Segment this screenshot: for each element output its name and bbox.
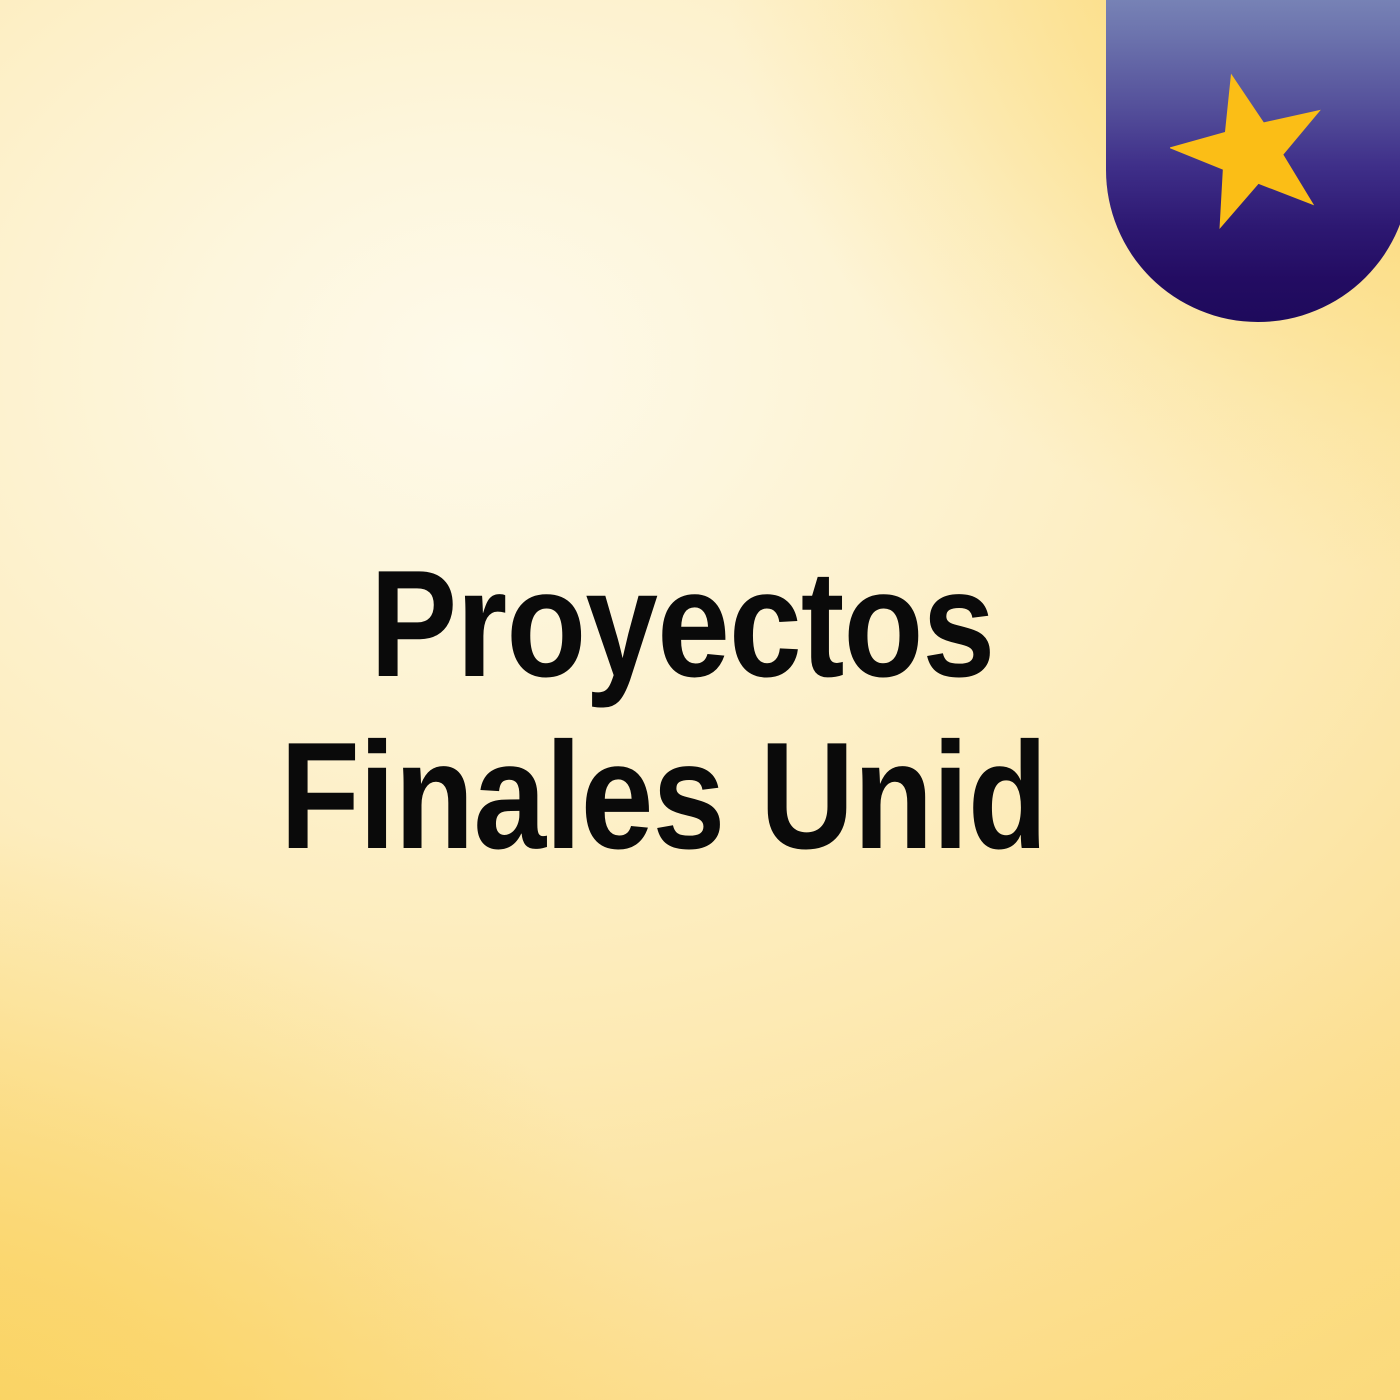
page-title: Proyectos Finales Unid [262,538,1162,882]
title-line-1: Proyectos [370,538,1051,710]
title-slide: Proyectos Finales Unid [0,0,1400,1400]
star-shield-badge [1106,0,1400,322]
title-line-2: Finales Unid [280,710,1039,882]
star-icon [1170,68,1330,233]
